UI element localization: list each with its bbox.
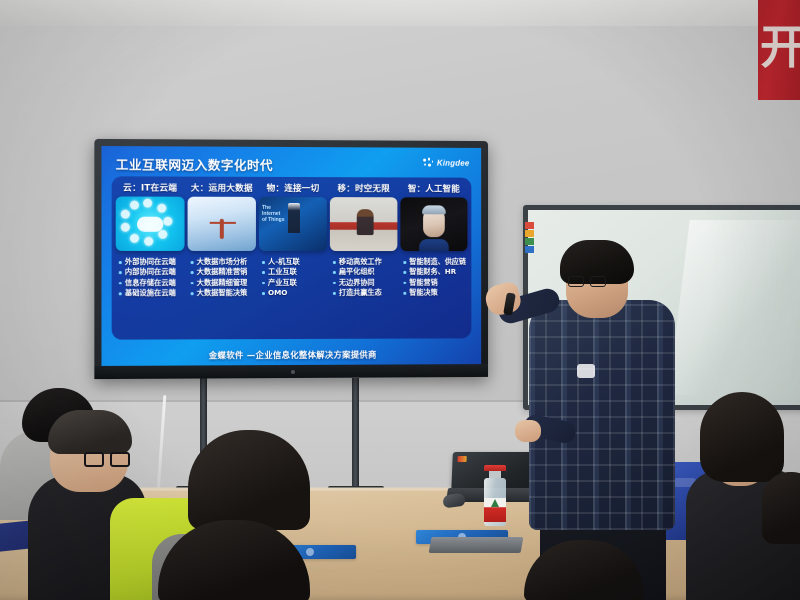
eyeglasses-icon xyxy=(568,276,608,287)
slide-column-cloud: 云：IT在云端 xyxy=(116,181,185,335)
column-heading-iot: 物：连接一切 xyxy=(259,182,327,194)
ceiling xyxy=(0,0,800,26)
list-item: 大数据精准营销 xyxy=(190,267,256,277)
list-item: 外部协同在云端 xyxy=(118,257,185,267)
column-heading-bigdata: 大：运用大数据 xyxy=(188,182,256,194)
worker-figure-icon xyxy=(357,209,374,235)
slide-column-ai: 智：人工智能 智能制造、供应链 智能财务、HR 智能营销 智能决策 xyxy=(400,182,467,334)
attendee-front-left-hair xyxy=(48,410,132,454)
cloud-shape-icon xyxy=(137,217,163,232)
kingdee-dots-logo-icon xyxy=(423,158,434,169)
slide-content-panel: 云：IT在云端 xyxy=(112,176,472,339)
red-wall-panel: 开 xyxy=(758,0,800,100)
list-item: 智能制造、供应链 xyxy=(402,257,467,267)
slide-title: 工业互联网迈入数字化时代 xyxy=(116,154,273,174)
tv-display: 工业互联网迈入数字化时代 Kingdee 云 xyxy=(94,139,488,379)
list-item: 智能决策 xyxy=(402,288,467,298)
presentation-slide: 工业互联网迈入数字化时代 Kingdee 云 xyxy=(101,146,481,366)
list-item: 工业互联 xyxy=(261,267,327,277)
water-bottle-1 xyxy=(484,465,506,526)
list-item: OMO xyxy=(261,288,327,299)
figure-arm-right xyxy=(223,222,236,224)
column-heading-mobile: 移：时空无限 xyxy=(330,182,397,194)
list-item: 移动高效工作 xyxy=(332,257,398,267)
robot-cranium xyxy=(422,205,446,214)
laptop-sticker xyxy=(457,456,466,462)
list-item: 无边界协同 xyxy=(332,278,398,288)
figure-arm-left xyxy=(209,222,222,224)
attendee-mid-left-hair xyxy=(188,430,310,530)
attendee-far-right-hair xyxy=(762,472,800,544)
robot-body xyxy=(419,239,449,251)
kingdee-wordmark: Kingdee xyxy=(437,159,469,168)
slide-footer: 金蝶软件 —企业信息化整体解决方案提供商 xyxy=(101,348,481,362)
internet-of-things-image: TheInternetof Things xyxy=(259,197,327,251)
wall-chinese-character: 开 xyxy=(760,24,800,70)
list-item: 智能财务、HR xyxy=(402,267,467,277)
presenter-torso xyxy=(529,300,675,530)
slide-column-mobile: 移：时空无限 移动高效工作 扁平化组织 无边界协同 打造共赢生态 xyxy=(330,182,397,335)
list-item: 大数据精细管理 xyxy=(190,278,256,289)
cloud-network-image xyxy=(116,196,185,250)
column-heading-cloud: 云：IT在云端 xyxy=(116,181,185,193)
list-item: 大数据智能决策 xyxy=(190,288,256,299)
bullet-list-ai: 智能制造、供应链 智能财务、HR 智能营销 智能决策 xyxy=(400,257,467,298)
whiteboard-glare xyxy=(668,220,800,395)
businessman-icon xyxy=(288,203,300,233)
plaid-shirt-pattern xyxy=(529,300,675,530)
list-item: 内部协同在云端 xyxy=(118,267,185,278)
bullet-list-iot: 人-机互联 工业互联 产业互联 OMO xyxy=(259,257,327,299)
big-data-person-image xyxy=(188,197,256,251)
bullet-list-cloud: 外部协同在云端 内部协同在云端 信息存储在云端 基础设施在云端 xyxy=(116,257,185,299)
list-item: 信息存储在云端 xyxy=(118,278,185,289)
attendee-right-woman-hair xyxy=(700,392,784,482)
bottle-label xyxy=(484,498,506,522)
list-item: 大数据市场分析 xyxy=(190,257,256,267)
bottle-body xyxy=(484,478,506,526)
kingdee-logo: Kingdee xyxy=(423,158,469,169)
smartphone-on-table xyxy=(429,537,524,553)
tv-power-indicator xyxy=(291,370,295,374)
ai-robot-sophia-image xyxy=(400,197,467,251)
meeting-room-scene: 开 工业互联网迈入数字化时代 xyxy=(0,0,800,600)
bottle-neck xyxy=(489,471,501,478)
pine-tree-icon xyxy=(491,499,499,507)
column-heading-ai: 智：人工智能 xyxy=(400,182,467,194)
bullet-list-bigdata: 大数据市场分析 大数据精准营销 大数据精细管理 大数据智能决策 xyxy=(188,257,256,299)
mobile-work-image xyxy=(330,197,397,251)
whiteboard-markers xyxy=(525,222,535,254)
eyeglasses-icon xyxy=(84,452,130,467)
list-item: 产业互联 xyxy=(261,278,327,288)
presenter-hand-lower xyxy=(515,420,541,442)
tv-screen: 工业互联网迈入数字化时代 Kingdee 云 xyxy=(101,146,481,366)
shirt-logo-badge xyxy=(577,364,595,378)
iot-caption-text: TheInternetof Things xyxy=(262,205,285,223)
slide-column-iot: 物：连接一切 TheInternetof Things 人-机互联 工业互联 产… xyxy=(259,182,327,335)
list-item: 人-机互联 xyxy=(261,257,327,267)
list-item: 打造共赢生态 xyxy=(332,288,398,298)
folder-seal xyxy=(306,548,314,556)
bullet-list-mobile: 移动高效工作 扁平化组织 无边界协同 打造共赢生态 xyxy=(330,257,397,299)
list-item: 基础设施在云端 xyxy=(118,288,185,299)
list-item: 智能营销 xyxy=(402,278,467,288)
tv-stand-post-right xyxy=(352,378,359,490)
slide-column-bigdata: 大：运用大数据 大数据市场分析 大数据精准营销 大数据精细管理 大数据智能决策 xyxy=(188,182,256,336)
list-item: 扁平化组织 xyxy=(332,267,398,277)
slide-columns: 云：IT在云端 xyxy=(112,176,472,339)
